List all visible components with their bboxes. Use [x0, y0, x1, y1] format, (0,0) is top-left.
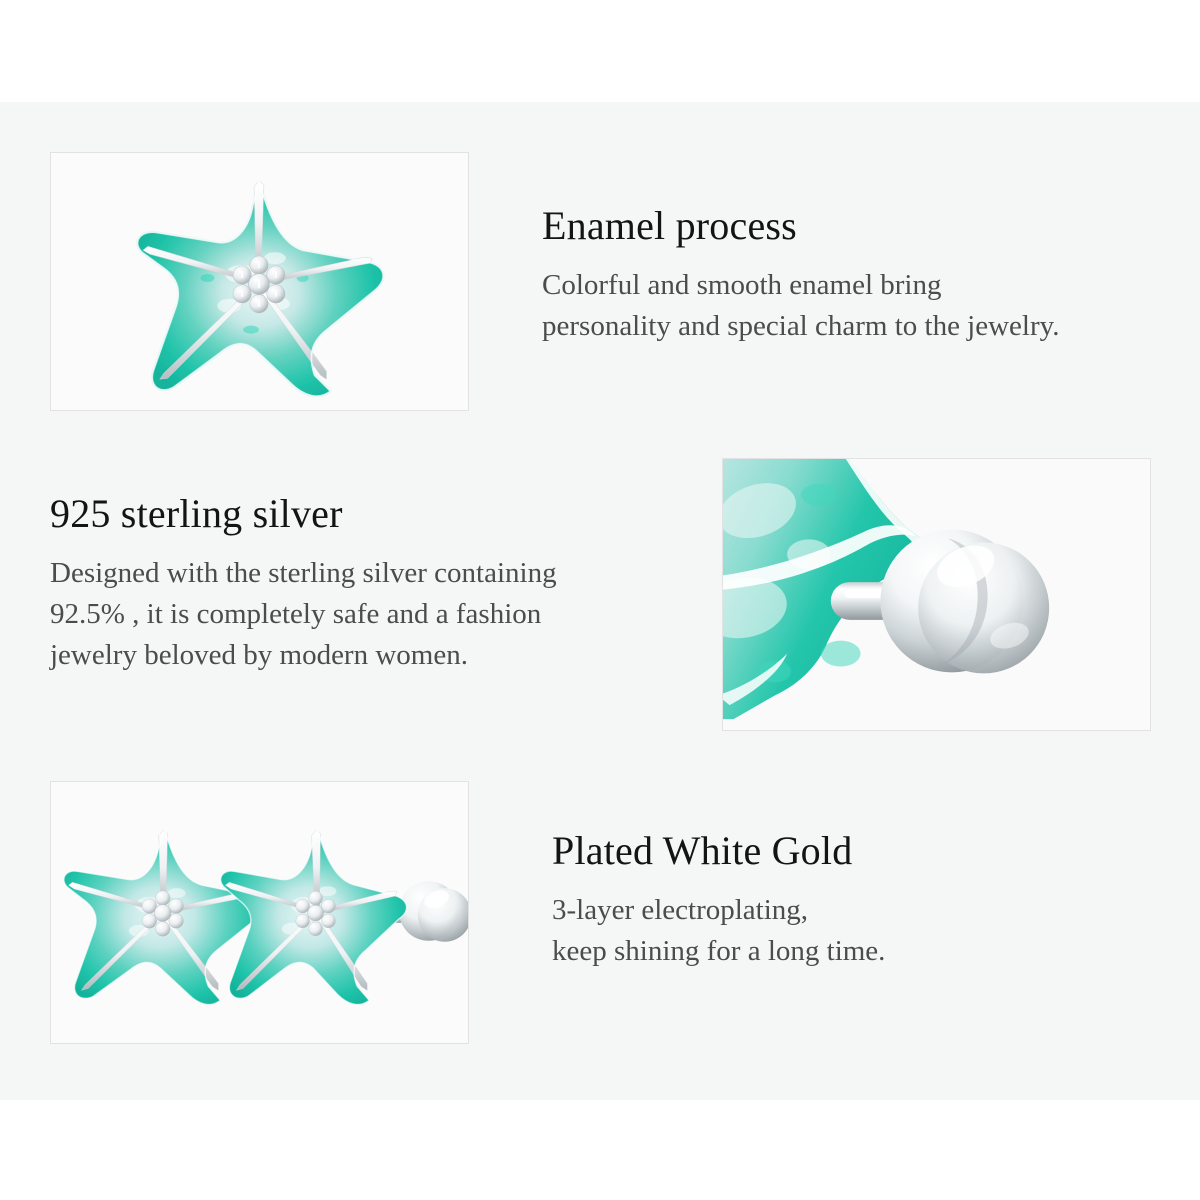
- feature-body-line: Colorful and smooth enamel bring: [542, 265, 1060, 306]
- product-image-stud-pair: [50, 781, 469, 1044]
- feature-heading-plated-white-gold: Plated White Gold: [552, 828, 885, 874]
- feature-text-plated-white-gold: Plated White Gold 3-layer electroplating…: [552, 828, 885, 972]
- ball-back-closeup-illustration: [723, 459, 1150, 730]
- feature-text-enamel-process: Enamel process Colorful and smooth ename…: [542, 203, 1060, 347]
- feature-heading-sterling-silver: 925 sterling silver: [50, 491, 557, 537]
- product-image-enamel-process: [50, 152, 469, 411]
- feature-body-line: Designed with the sterling silver contai…: [50, 553, 557, 594]
- starfish-front-illustration: [51, 153, 468, 410]
- feature-body-line: keep shining for a long time.: [552, 931, 885, 972]
- feature-heading-enamel-process: Enamel process: [542, 203, 1060, 249]
- feature-text-sterling-silver: 925 sterling silver Designed with the st…: [50, 491, 557, 677]
- product-feature-infographic: Enamel process Colorful and smooth ename…: [0, 0, 1200, 1200]
- feature-body-line: 92.5% , it is completely safe and a fash…: [50, 594, 557, 635]
- feature-body-line: jewelry beloved by modern women.: [50, 635, 557, 676]
- stud-pair-illustration: [51, 782, 468, 1043]
- product-image-ball-back-closeup: [722, 458, 1151, 731]
- feature-body-line: personality and special charm to the jew…: [542, 306, 1060, 347]
- feature-body-line: 3-layer electroplating,: [552, 890, 885, 931]
